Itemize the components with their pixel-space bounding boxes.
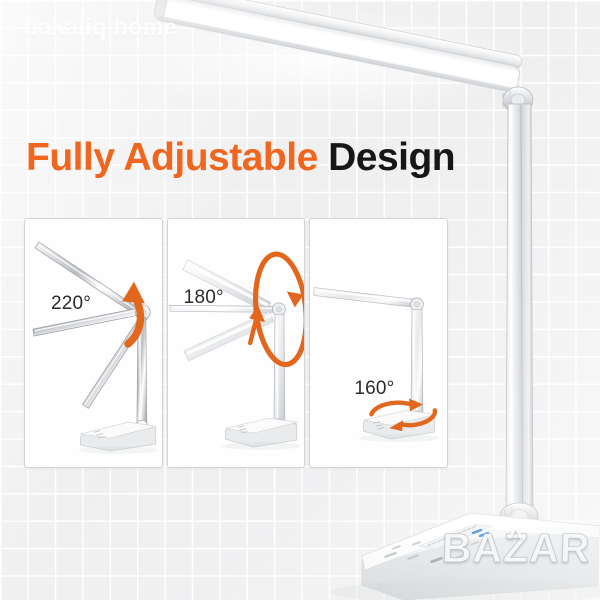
title-accent: Fully Adjustable bbox=[26, 136, 318, 179]
adjustment-panels: 220° bbox=[24, 218, 448, 468]
lamp-head bbox=[153, 0, 523, 94]
panel-160-illustration bbox=[310, 219, 447, 467]
page-title: Fully Adjustable Design bbox=[26, 136, 455, 180]
lamp-base-small bbox=[221, 418, 300, 450]
panel-220-angle-label: 220° bbox=[51, 293, 91, 315]
panel-160-degrees: 160° bbox=[309, 218, 448, 468]
title-plain: Design bbox=[328, 136, 455, 179]
lamp-vertical-arm bbox=[506, 104, 533, 512]
lamp-top-hinge bbox=[503, 87, 533, 113]
bazar-hat-icon: ^ bbox=[507, 521, 524, 552]
lamp-top-hinge bbox=[411, 298, 424, 311]
panel-220-illustration bbox=[25, 219, 162, 467]
watermark-top-left: bakaliq home bbox=[24, 14, 177, 41]
lamp-head bbox=[314, 288, 415, 308]
panel-180-illustration bbox=[168, 219, 305, 467]
panel-220-degrees: 220° bbox=[24, 218, 163, 468]
panel-180-degrees: 180° bbox=[167, 218, 306, 468]
watermark-bazar: ^BAZAR bbox=[441, 525, 591, 572]
panel-180-angle-label: 180° bbox=[184, 287, 224, 309]
product-infographic: bakaliq home ^BAZAR Fully Adjustable Des… bbox=[0, 0, 600, 600]
arrow-head-220 bbox=[122, 282, 145, 304]
pivot-joint bbox=[272, 303, 285, 316]
lamp-base-small bbox=[78, 422, 157, 454]
panel-160-angle-label: 160° bbox=[354, 378, 394, 400]
